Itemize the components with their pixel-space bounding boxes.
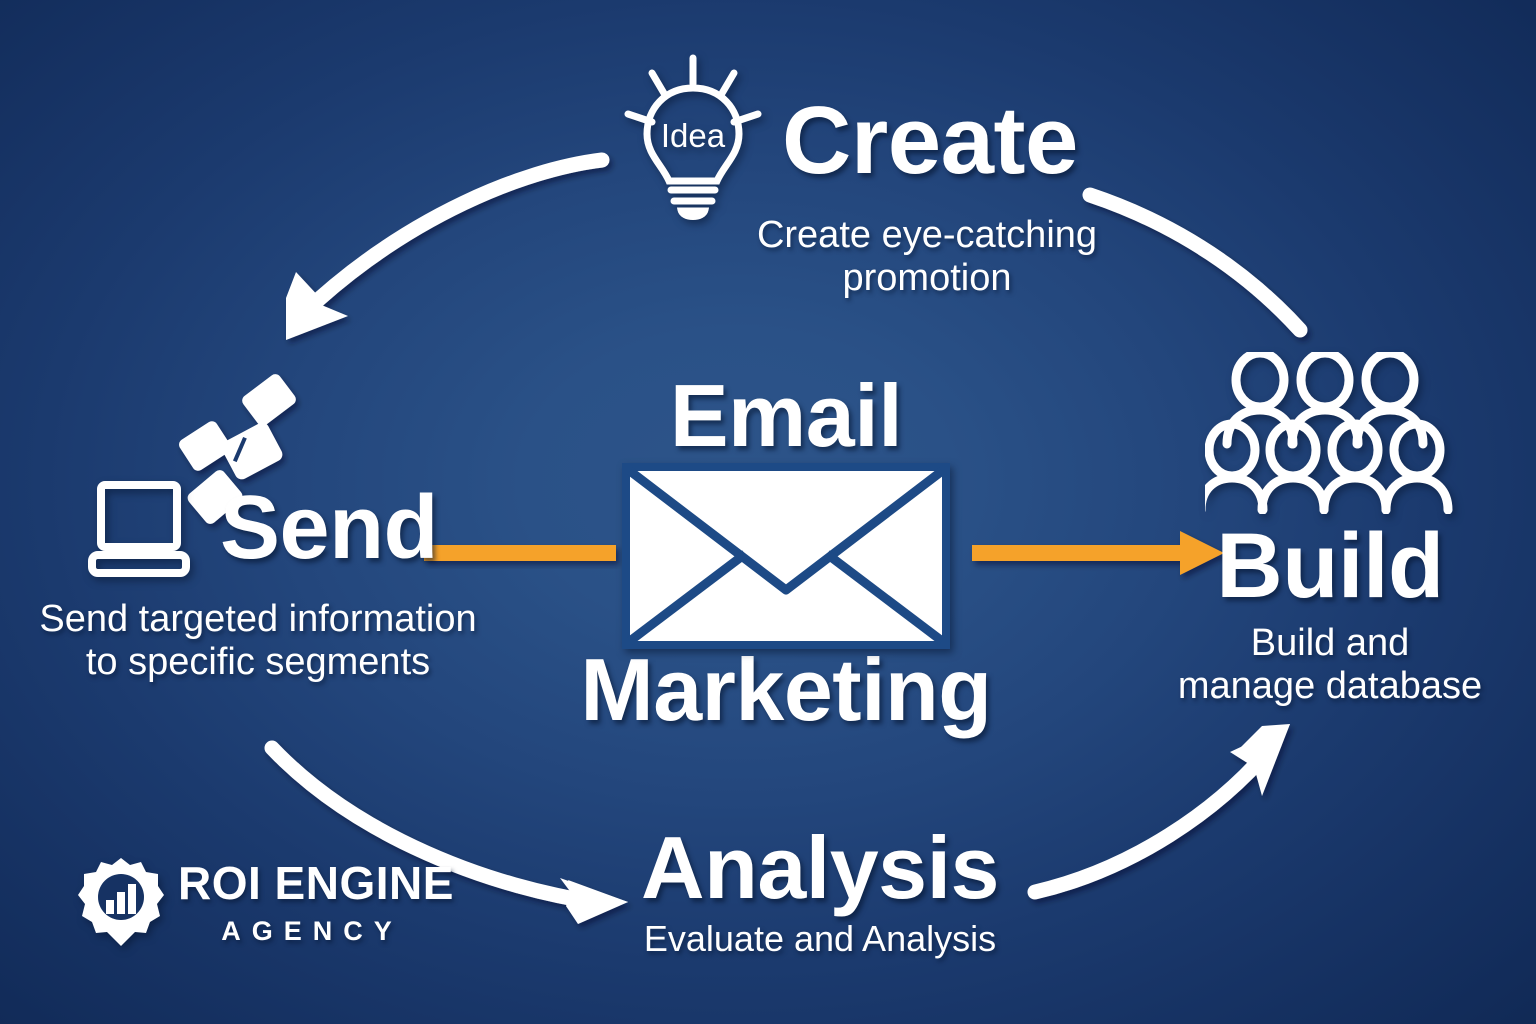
logo-tagline: AGENCY [178,916,454,947]
step-analysis-title: Analysis [600,824,1040,912]
step-build: Build Build and manage database [1130,352,1530,709]
center-title-line2: Marketing [576,646,996,734]
step-send-description: Send targeted information to specific se… [8,598,508,685]
step-send-desc-line1: Send targeted information [8,598,508,641]
envelope-flap-line [227,438,252,462]
logo-name: ROI ENGINE [178,860,454,906]
step-build-desc-line1: Build and [1130,622,1530,665]
step-build-title: Build [1130,520,1530,612]
gear-pin-barchart-icon [78,856,164,948]
laptop-icon [86,479,202,577]
step-create-desc-line2: promotion [726,257,1128,300]
step-build-desc-line2: manage database [1130,665,1530,708]
step-send: Send Send targeted information to specif… [8,468,508,685]
step-create-desc-line1: Create eye-catching [726,214,1128,257]
envelope-icon [621,462,951,650]
connector-create-to-send-icon [286,160,602,340]
step-create-title: Create [782,93,1078,189]
step-build-description: Build and manage database [1130,622,1530,709]
center-email-marketing: Email Marketing [576,372,996,734]
brand-logo[interactable]: ROI ENGINE AGENCY [78,856,454,948]
step-analysis: Analysis Evaluate and Analysis [600,824,1040,959]
connector-analysis-to-build-icon [1035,724,1290,892]
step-create: Idea Create Create eye-catching promotio… [608,58,1128,301]
lightbulb-idea-icon: Idea [618,52,768,224]
center-title-line1: Email [576,372,996,460]
step-analysis-description: Evaluate and Analysis [600,918,1040,959]
step-send-desc-line2: to specific segments [8,641,508,684]
infographic-canvas: Idea Create Create eye-catching promotio… [0,0,1536,1024]
step-create-description: Create eye-catching promotion [608,214,1128,301]
lightbulb-label: Idea [661,117,726,154]
step-send-title: Send [220,483,438,573]
people-group-icon [1205,352,1455,514]
